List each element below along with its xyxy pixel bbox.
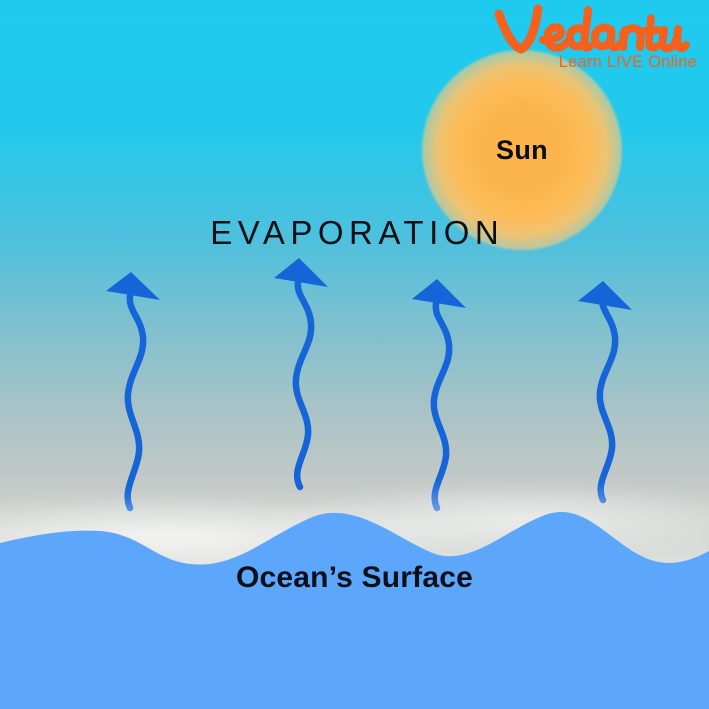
ocean-surface-label: Ocean’s Surface — [0, 561, 709, 595]
ocean-surface-shape — [0, 0, 709, 709]
evaporation-diagram: Sun Learn LIVE Online — [0, 0, 709, 709]
